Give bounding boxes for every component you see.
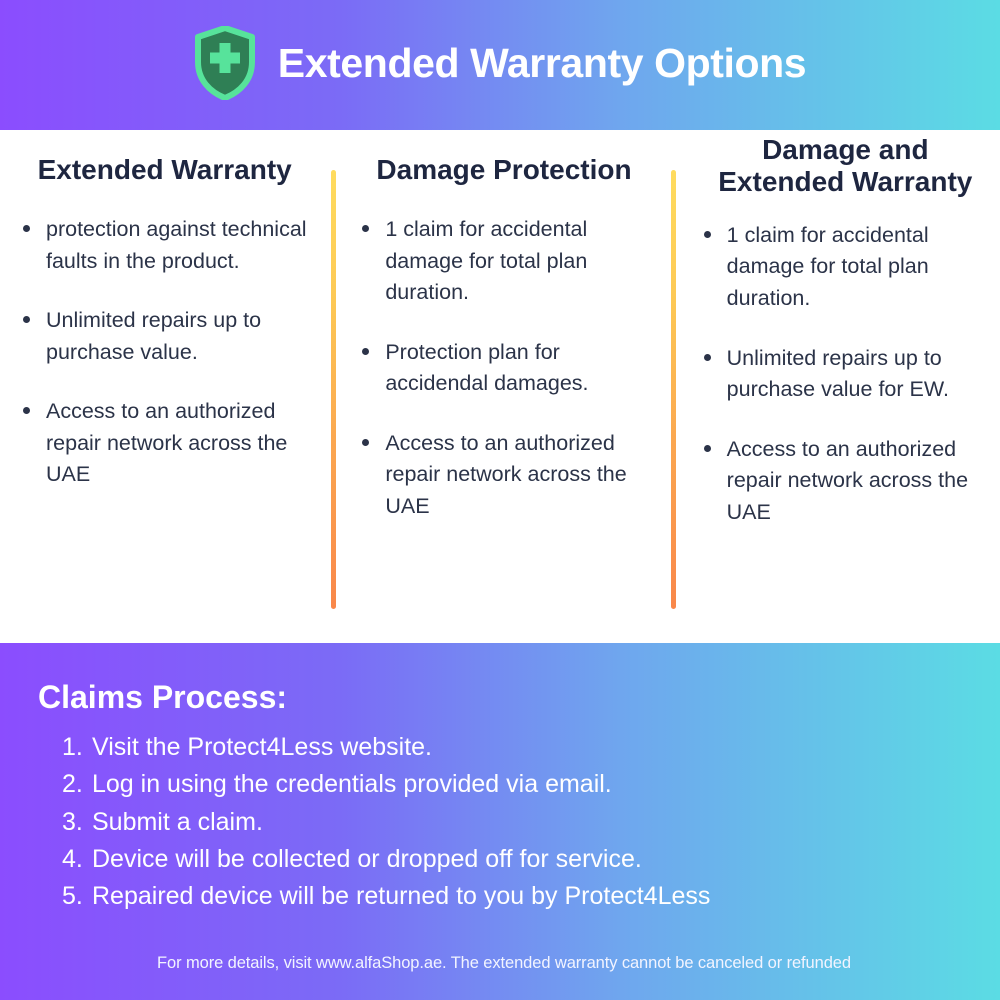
benefit-text: Unlimited repairs up to purchase value. — [46, 308, 261, 364]
bullet-dot-icon — [23, 407, 30, 414]
plan-title: Damage Protection — [359, 154, 648, 186]
list-item: Log in using the credentials provided vi… — [92, 766, 970, 803]
bullet-dot-icon — [362, 439, 369, 446]
list-item: Access to an authorized repair network a… — [701, 434, 990, 529]
claims-process-section: Claims Process: Visit the Protect4Less w… — [0, 643, 1000, 1000]
list-item: Access to an authorized repair network a… — [359, 428, 648, 523]
plan-benefit-list: protection against technical faults in t… — [20, 214, 309, 491]
column-divider — [671, 170, 676, 609]
page-title: Extended Warranty Options — [278, 43, 806, 84]
plan-column-damage-protection: Damage Protection 1 claim for accidental… — [331, 148, 670, 643]
claims-process-heading: Claims Process: — [38, 681, 970, 713]
bullet-dot-icon — [23, 316, 30, 323]
list-item: Unlimited repairs up to purchase value. — [20, 305, 309, 368]
plan-column-damage-and-extended-warranty: Damage and Extended Warranty 1 claim for… — [671, 148, 1000, 643]
benefit-text: Access to an authorized repair network a… — [46, 399, 287, 486]
list-item: Visit the Protect4Less website. — [92, 729, 970, 766]
shield-health-icon — [194, 26, 256, 100]
list-item: protection against technical faults in t… — [20, 214, 309, 277]
bullet-dot-icon — [704, 445, 711, 452]
bullet-dot-icon — [704, 354, 711, 361]
plan-title: Extended Warranty — [20, 154, 309, 186]
plan-comparison-columns: Extended Warranty protection against tec… — [0, 130, 1000, 643]
list-item: Repaired device will be returned to you … — [92, 878, 970, 915]
benefit-text: Protection plan for accidendal damages. — [385, 340, 588, 396]
column-divider — [331, 170, 336, 609]
benefit-text: 1 claim for accidental damage for total … — [385, 217, 587, 304]
benefit-text: Access to an authorized repair network a… — [385, 431, 626, 518]
list-item: Submit a claim. — [92, 804, 970, 841]
benefit-text: Unlimited repairs up to purchase value f… — [727, 346, 949, 402]
bullet-dot-icon — [362, 348, 369, 355]
list-item: Unlimited repairs up to purchase value f… — [701, 343, 990, 406]
bullet-dot-icon — [362, 225, 369, 232]
warranty-options-poster: Extended Warranty Options Extended Warra… — [0, 0, 1000, 1000]
benefit-text: protection against technical faults in t… — [46, 217, 307, 273]
list-item: Access to an authorized repair network a… — [20, 396, 309, 491]
footer-disclaimer: For more details, visit www.alfaShop.ae.… — [38, 954, 970, 974]
list-item: 1 claim for accidental damage for total … — [359, 214, 648, 309]
plan-benefit-list: 1 claim for accidental damage for total … — [701, 220, 990, 529]
bullet-dot-icon — [23, 225, 30, 232]
plan-title: Damage and Extended Warranty — [701, 134, 990, 198]
page-header: Extended Warranty Options — [0, 0, 1000, 130]
plan-column-extended-warranty: Extended Warranty protection against tec… — [0, 148, 331, 643]
list-item: Protection plan for accidendal damages. — [359, 337, 648, 400]
bullet-dot-icon — [704, 231, 711, 238]
list-item: Device will be collected or dropped off … — [92, 841, 970, 878]
list-item: 1 claim for accidental damage for total … — [701, 220, 990, 315]
benefit-text: Access to an authorized repair network a… — [727, 437, 968, 524]
claims-process-steps: Visit the Protect4Less website. Log in u… — [62, 729, 970, 915]
benefit-text: 1 claim for accidental damage for total … — [727, 223, 929, 310]
plan-benefit-list: 1 claim for accidental damage for total … — [359, 214, 648, 523]
